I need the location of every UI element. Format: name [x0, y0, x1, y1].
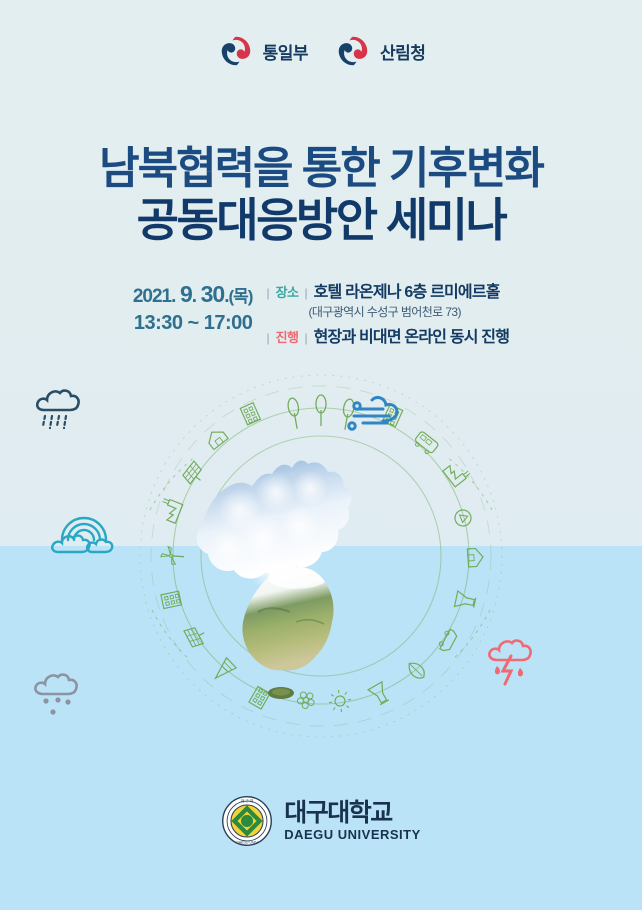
date-month: 9 [180, 281, 192, 307]
poster-canvas: 통일부 산림청 남북협력을 통한 기후변화 공동대응방안 세미나 2021. 9… [0, 0, 642, 910]
event-date: 2021. 9. 30.(목) [133, 279, 253, 310]
title-line-2: 공동대응방안 세미나 [0, 195, 642, 247]
venue-value: 호텔 라온제나 6층 르미에르홀 [314, 278, 500, 302]
pipe-left-mode: | [266, 331, 269, 345]
title-line-1: 남북협력을 통한 기후변화 [0, 144, 642, 193]
thunderstorm-icon [489, 641, 530, 684]
venue-label: 장소 [276, 282, 299, 301]
university-name-korean: 대구대학교 [284, 801, 421, 826]
daegu-university-seal-icon: 대 구 대 DAEGU UNIV [221, 795, 273, 847]
pipe-right-venue: | [304, 286, 307, 300]
university-branding: 대 구 대 DAEGU UNIV 대구대학교 DAEGU UNIVERSITY [0, 795, 642, 847]
date-day: 30 [201, 281, 225, 307]
date-sep-1: . [192, 286, 196, 307]
logo-unification-ministry: 통일부 [217, 32, 308, 70]
svg-text:대 구 대: 대 구 대 [241, 798, 254, 803]
government-logo-bar: 통일부 산림청 [0, 32, 642, 70]
event-info-block: 2021. 9. 30.(목) 13:30 ~ 17:00 | 장소 | 호텔 … [0, 278, 642, 347]
mode-label: 진행 [276, 327, 299, 346]
poster-title: 남북협력을 통한 기후변화 공동대응방안 세미나 [0, 144, 642, 247]
logo-label-unification: 통일부 [263, 39, 308, 64]
pipe-left-venue: | [266, 286, 269, 300]
orbit-rings [140, 375, 502, 737]
mode-value: 현장과 비대면 온라인 동시 진행 [314, 323, 510, 347]
snow-cloud-icon [35, 675, 76, 715]
logo-label-forest-service: 산림청 [380, 39, 425, 64]
event-details: | 장소 | 호텔 라온제나 6층 르미에르홀 (대구광역시 수성구 범어천로 … [266, 278, 509, 347]
logo-forest-service: 산림청 [334, 32, 425, 70]
mode-row: | 진행 | 현장과 비대면 온라인 동시 진행 [266, 323, 509, 347]
rainbow-cloud-icon [52, 518, 112, 552]
event-datetime: 2021. 9. 30.(목) 13:30 ~ 17:00 [133, 278, 253, 337]
korea-gov-taegeuk-icon [334, 32, 372, 70]
svg-text:DAEGU UNIV: DAEGU UNIV [236, 841, 258, 845]
date-day-of-week: (목) [228, 287, 252, 306]
date-year: 2021. [133, 286, 176, 307]
event-time: 13:30 ~ 17:00 [133, 310, 253, 337]
rain-cloud-icon [37, 391, 78, 428]
pipe-right-mode: | [304, 331, 307, 345]
central-illustration [0, 360, 642, 770]
venue-address: (대구광역시 수성구 범어천로 73) [308, 303, 509, 320]
university-name: 대구대학교 DAEGU UNIVERSITY [284, 801, 421, 841]
university-name-english: DAEGU UNIVERSITY [284, 828, 421, 841]
korea-gov-taegeuk-icon [217, 32, 255, 70]
venue-row: | 장소 | 호텔 라온제나 6층 르미에르홀 [266, 278, 509, 302]
